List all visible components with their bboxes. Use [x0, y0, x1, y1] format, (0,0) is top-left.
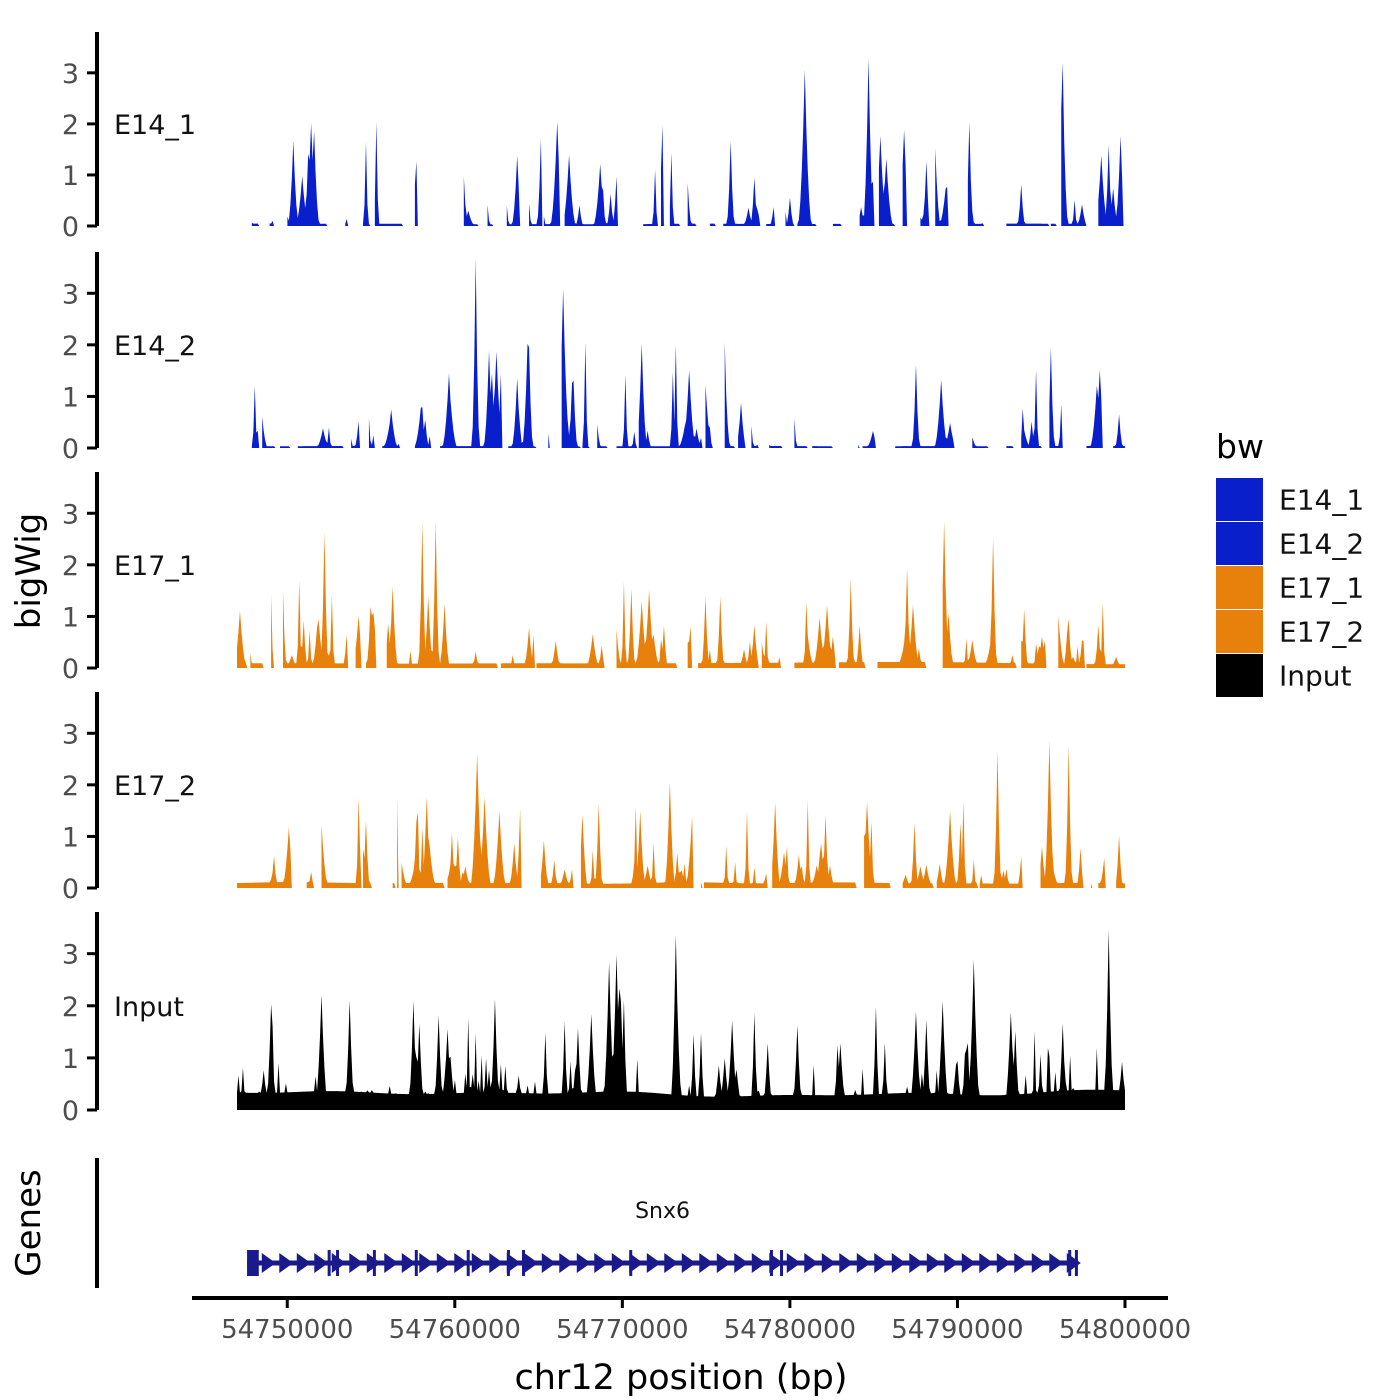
y-tick-label: 0	[62, 874, 79, 905]
legend-label: Input	[1279, 660, 1352, 693]
gene-strand-arrow-icon	[857, 1253, 871, 1273]
gene-strand-arrow-icon	[892, 1253, 906, 1273]
y-tick-label: 1	[62, 382, 79, 413]
genes-panel: GenesSnx6	[9, 1158, 1081, 1288]
genome-browser-figure: 0123E14_10123E14_20123E17_10123E17_20123…	[0, 0, 1400, 1400]
legend-title: bw	[1216, 427, 1264, 466]
gene-strand-arrow-icon	[874, 1253, 888, 1273]
y-tick-label: 2	[62, 551, 79, 582]
y-tick-label: 0	[62, 212, 79, 243]
gene-strand-arrow-icon	[542, 1253, 556, 1273]
panel-label-e14_1: E14_1	[114, 110, 196, 141]
legend-item-e14_2[interactable]: E14_2	[1216, 522, 1364, 565]
gene-strand-arrow-icon	[1032, 1253, 1046, 1273]
y-tick-label: 2	[62, 331, 79, 362]
legend-swatch	[1216, 522, 1263, 565]
gene-strand-arrow-icon	[682, 1253, 696, 1273]
gene-strand-arrow-icon	[384, 1253, 398, 1273]
gene-strand-arrow-icon	[734, 1253, 748, 1273]
gene-model[interactable]: Snx6	[247, 1199, 1081, 1276]
figure-root: 0123E14_10123E14_20123E17_10123E17_20123…	[0, 0, 1400, 1400]
x-tick-label: 54780000	[724, 1315, 856, 1345]
legend-item-e17_2[interactable]: E17_2	[1216, 610, 1364, 653]
panel-label-e17_2: E17_2	[114, 771, 196, 802]
panel-label-input: Input	[114, 992, 184, 1023]
coverage-area-e17_1	[237, 521, 1125, 668]
bigwig-panel-e14_1: 0123E14_1	[62, 32, 1124, 243]
gene-strand-arrow-icon	[402, 1253, 416, 1273]
y-tick-label: 1	[62, 1044, 79, 1075]
x-tick-label: 54790000	[891, 1315, 1023, 1345]
x-tick-label: 54770000	[556, 1315, 688, 1345]
gene-strand-arrow-icon	[437, 1253, 451, 1273]
gene-strand-arrow-icon	[962, 1253, 976, 1273]
gene-strand-arrow-icon	[717, 1253, 731, 1273]
gene-strand-arrow-icon	[489, 1253, 503, 1273]
y-tick-label: 2	[62, 110, 79, 141]
gene-strand-arrow-icon	[594, 1253, 608, 1273]
gene-exon-box	[247, 1250, 259, 1276]
y-tick-label: 0	[62, 1096, 79, 1127]
gene-strand-arrow-icon	[1049, 1253, 1063, 1273]
y-tick-label: 1	[62, 602, 79, 633]
x-axis-title: chr12 position (bp)	[515, 1358, 848, 1398]
legend-swatch	[1216, 566, 1263, 609]
legend-swatch	[1216, 610, 1263, 653]
legend-item-e17_1[interactable]: E17_1	[1216, 566, 1364, 609]
gene-strand-arrow-icon	[1014, 1253, 1028, 1273]
legend-item-e14_1[interactable]: E14_1	[1216, 478, 1364, 521]
y-tick-label: 1	[62, 822, 79, 853]
gene-strand-arrow-icon	[349, 1253, 363, 1273]
gene-strand-arrow-icon	[629, 1253, 643, 1273]
legend-label: E14_2	[1279, 528, 1364, 561]
gene-strand-arrow-icon	[664, 1253, 678, 1273]
x-tick-label: 54760000	[389, 1315, 521, 1345]
y-tick-label: 0	[62, 434, 79, 465]
gene-strand-arrow-icon	[314, 1253, 328, 1273]
y-tick-label: 3	[62, 719, 79, 750]
x-tick-label: 54800000	[1059, 1315, 1191, 1345]
gene-strand-arrow-icon	[944, 1253, 958, 1273]
genes-axis-title: Genes	[9, 1169, 49, 1276]
gene-strand-arrow-icon	[454, 1253, 468, 1273]
gene-strand-arrow-icon	[612, 1253, 626, 1273]
gene-strand-arrow-icon	[647, 1253, 661, 1273]
bigwig-panel-e17_2: 0123E17_2	[62, 692, 1125, 905]
y-tick-label: 3	[62, 499, 79, 530]
gene-strand-arrow-icon	[839, 1253, 853, 1273]
gene-strand-arrow-icon	[787, 1253, 801, 1273]
y-tick-label: 0	[62, 654, 79, 685]
gene-strand-arrow-icon	[472, 1253, 486, 1273]
y-axis-title: bigWig	[9, 513, 49, 630]
legend-label: E17_2	[1279, 616, 1364, 649]
gene-strand-arrow-icon	[524, 1253, 538, 1273]
gene-strand-arrow-icon	[279, 1253, 293, 1273]
x-axis: 5475000054760000547700005478000054790000…	[192, 1298, 1191, 1398]
gene-strand-arrow-icon	[297, 1253, 311, 1273]
bigwig-panel-e14_2: 0123E14_2	[62, 252, 1125, 465]
legend-swatch	[1216, 478, 1263, 521]
legend-swatch	[1216, 654, 1263, 697]
gene-strand-arrow-icon	[997, 1253, 1011, 1273]
y-tick-label: 3	[62, 59, 79, 90]
gene-strand-arrow-icon	[909, 1253, 923, 1273]
gene-strand-arrow-icon	[1067, 1253, 1081, 1273]
y-tick-label: 3	[62, 940, 79, 971]
gene-strand-arrow-icon	[577, 1253, 591, 1273]
panel-label-e14_2: E14_2	[114, 331, 196, 362]
coverage-area-input	[237, 929, 1125, 1110]
panel-label-e17_1: E17_1	[114, 551, 196, 582]
x-tick-label: 54750000	[221, 1315, 353, 1345]
y-tick-label: 2	[62, 771, 79, 802]
gene-strand-arrow-icon	[262, 1253, 276, 1273]
gene-strand-arrow-icon	[979, 1253, 993, 1273]
coverage-area-e17_2	[237, 740, 1125, 888]
gene-strand-arrow-icon	[699, 1253, 713, 1273]
coverage-area-e14_2	[252, 259, 1125, 448]
gene-strand-arrow-icon	[419, 1253, 433, 1273]
legend-item-input[interactable]: Input	[1216, 654, 1352, 697]
bigwig-panel-e17_1: 0123E17_1	[62, 472, 1125, 685]
gene-strand-arrow-icon	[927, 1253, 941, 1273]
legend-label: E17_1	[1279, 572, 1364, 605]
coverage-area-e14_1	[252, 58, 1124, 226]
bigwig-panel-input: 0123Input	[62, 912, 1125, 1127]
gene-strand-arrow-icon	[507, 1253, 521, 1273]
gene-strand-arrow-icon	[559, 1253, 573, 1273]
gene-strand-arrow-icon	[804, 1253, 818, 1273]
legend: bwE14_1E14_2E17_1E17_2Input	[1216, 427, 1364, 697]
legend-label: E14_1	[1279, 484, 1364, 517]
y-tick-label: 2	[62, 992, 79, 1023]
y-tick-label: 3	[62, 279, 79, 310]
gene-strand-arrow-icon	[752, 1253, 766, 1273]
gene-strand-arrow-icon	[822, 1253, 836, 1273]
y-tick-label: 1	[62, 161, 79, 192]
gene-name-label: Snx6	[635, 1199, 690, 1224]
